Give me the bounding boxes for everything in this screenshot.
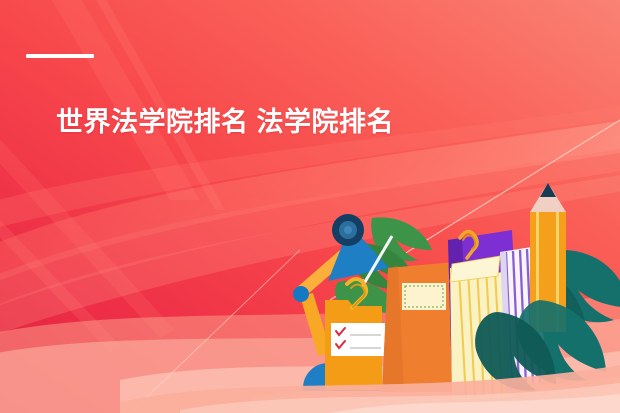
title-underline [26, 54, 94, 58]
page-title: 世界法学院排名 法学院排名 [56, 104, 394, 140]
promo-banner: 世界法学院排名 法学院排名 [0, 0, 620, 413]
lamp-pivot-joint [293, 286, 309, 302]
stationery-desk-illustration [0, 0, 620, 413]
